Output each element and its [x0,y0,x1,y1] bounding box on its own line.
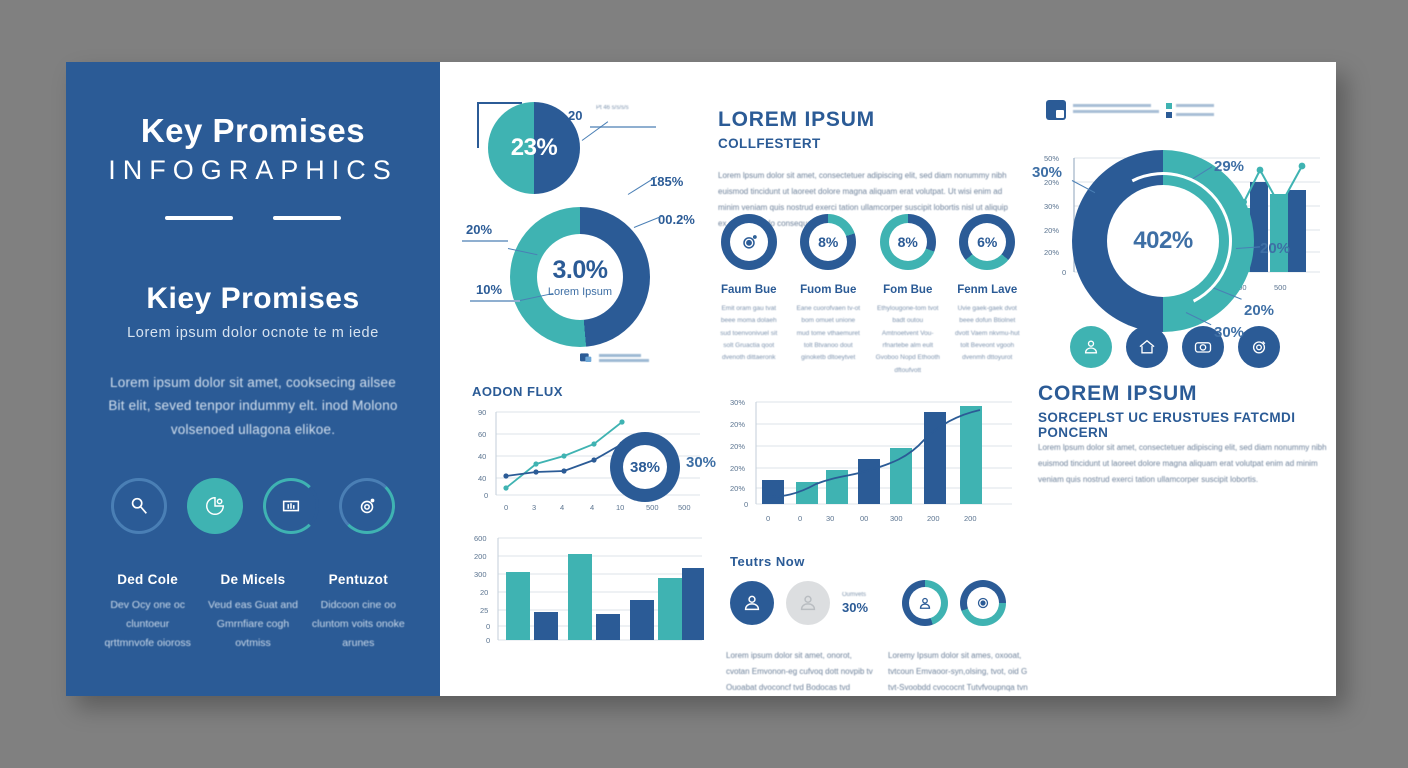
stat-text: Emit oram gau tvat beee moma dolaeh sud … [716,303,782,365]
legend-keys [1166,103,1214,118]
svg-text:600: 600 [474,534,487,543]
stat-ring [721,214,777,270]
feature-icon-row [1070,326,1280,368]
sidebar-column-text: Veud eas Guat and Gmrnfiare cogh ovtmiss [205,596,300,654]
svg-text:500: 500 [646,503,659,512]
person-icon-active[interactable] [730,581,774,625]
sidebar-column-text: Dev Ocy one oc cluntoeur qrttmnvofe oior… [100,596,195,654]
people-left-text: Lorem ipsum dolor sit amet, onorot, cvot… [726,648,876,696]
pie-chart-top: 23% [488,102,580,194]
donut-center-value: 402% [1133,227,1192,255]
sidebar-column-heading: Pentuzot [311,572,406,587]
pie-center-label: 23% [511,134,558,162]
stat-item[interactable]: 8% Fuom Bue Eane cuorofvaen tv-ot bom om… [796,214,862,377]
svg-text:0: 0 [504,503,508,512]
people-percent-block: Oumvets 30% [842,592,868,615]
divider-group [100,216,406,220]
svg-text:0: 0 [486,636,490,645]
svg-text:500: 500 [1274,283,1287,292]
sidebar-subtitle: Lorem ipsum dolor ocnote te m iede [100,325,406,341]
donut-center-label: Lorem Ipsum [548,286,612,298]
donut-label-5: 30% [1214,324,1244,341]
donut-label-10: 10% [476,282,502,297]
sidebar-icon-row [100,478,406,534]
svg-text:20%: 20% [730,442,745,451]
people-icon-group: Oumvets 30% [730,580,1006,626]
svg-text:0: 0 [1062,268,1066,277]
svg-text:40: 40 [478,474,486,483]
svg-text:20%: 20% [1044,226,1059,235]
lead-underline [470,300,520,302]
stat-item[interactable]: 6% Fenm Lave Uvie gaek-gaek dvot beee do… [955,214,1021,377]
svg-text:300: 300 [890,514,903,523]
target-icon[interactable] [1238,326,1280,368]
stat-heading: Fuom Bue [796,284,862,296]
people-percent: 30% [842,600,868,615]
divider-right [273,216,341,220]
stat-heading: Fenm Lave [955,284,1021,296]
center-subtitle: COLLFESTERT [718,136,821,151]
sidebar-column-heading: Ded Cole [100,572,195,587]
sidebar-column: De Micels Veud eas Guat and Gmrnfiare co… [205,572,300,654]
svg-text:200: 200 [927,514,940,523]
pie-chart-icon[interactable] [187,478,243,534]
stat-value: 8% [898,234,918,250]
sidebar-columns: Ded Cole Dev Ocy one oc cluntoeur qrttmn… [100,572,406,654]
svg-text:0: 0 [484,491,488,500]
target-icon[interactable] [339,478,395,534]
stat-text: Eane cuorofvaen tv-ot bom omuet unione m… [796,303,862,365]
bar-chart-bottom-left: 600 200 300 20 25 0 0 [464,528,714,650]
svg-text:4: 4 [590,503,594,512]
svg-text:00: 00 [860,514,868,523]
stat-value: 8% [818,234,838,250]
legend-key-teal [1166,103,1214,109]
stat-ring: 6% [959,214,1015,270]
legend-caption [1073,104,1159,116]
stat-heading: Faum Bue [716,284,782,296]
stat-item[interactable]: Faum Bue Emit oram gau tvat beee moma do… [716,214,782,377]
svg-text:500: 500 [678,503,691,512]
svg-text:0: 0 [766,514,770,523]
person-icon[interactable] [1070,326,1112,368]
svg-text:20%: 20% [730,484,745,493]
svg-text:0: 0 [798,514,802,523]
canvas: Key Promises INFOGRAPHICS Kiey Promises … [0,0,1408,768]
svg-text:20: 20 [480,588,488,597]
legend-key-navy [1166,112,1214,118]
svg-text:10: 10 [616,503,624,512]
stat-ring: 8% [800,214,856,270]
main-content: 23% 20 Pt 46 s/s/s/s 3.0% Lorem Ipsum 18… [440,62,1336,696]
pie-lead-value: 20 [568,108,582,123]
svg-text:3: 3 [532,503,536,512]
donut-label-002: 00.2% [658,212,695,227]
svg-text:0: 0 [744,500,748,509]
stat-ring-group: Faum Bue Emit oram gau tvat beee moma do… [712,214,1024,377]
divider-left [165,216,233,220]
svg-text:25: 25 [480,606,488,615]
stat-text: Ethylougone-tom tvot badt outou Amtnoetv… [875,303,941,377]
svg-text:30%: 30% [1044,202,1059,211]
person-ring-icon[interactable] [902,580,948,626]
donut-center-value: 3.0% [548,256,612,285]
magnifier-icon[interactable] [111,478,167,534]
chart-legend [1046,100,1214,120]
chart-title-aodon-flux: AODON FLUX [472,384,563,399]
sidebar-column: Pentuzot Didcoon cine oo cluntom voits o… [311,572,406,654]
stat-ring: 8% [880,214,936,270]
people-caption: Oumvets [842,592,868,598]
infographic-card: Key Promises INFOGRAPHICS Kiey Promises … [66,62,1336,696]
leader-line [582,121,608,141]
svg-text:90: 90 [478,408,486,417]
right-subtitle: SORCEPLST UC ERUSTUES FATCMDI PONCERN [1038,410,1336,440]
sidebar-column-heading: De Micels [205,572,300,587]
svg-text:20%: 20% [730,420,745,429]
sidebar: Key Promises INFOGRAPHICS Kiey Promises … [66,62,440,696]
bar-chart-icon[interactable] [263,478,319,534]
bar-chart-center: 30% 20% 20% 20% 20% 0 0 0 30 00 300 200 … [712,388,1024,528]
svg-text:30%: 30% [730,398,745,407]
donut-label-20: 20% [466,222,492,237]
donut-label-3: 20% [1260,240,1290,257]
svg-text:40: 40 [478,452,486,461]
sidebar-heading: Kiey Promises [100,282,406,316]
donut-label-2: 29% [1214,158,1244,175]
target-icon [739,232,759,252]
overlay-donut-value: 38% [630,459,660,476]
person-icon-inactive[interactable] [786,581,830,625]
svg-text:200: 200 [474,552,487,561]
target-ring-icon[interactable] [960,580,1006,626]
svg-text:4: 4 [560,503,564,512]
svg-text:20%: 20% [730,464,745,473]
svg-text:20%: 20% [1044,248,1059,257]
right-body-text: Lorem lpsum dolor sit amet, consectetuer… [1038,440,1328,488]
stat-text: Uvie gaek-gaek dvot beee dofun Btiolnet … [955,303,1021,365]
svg-text:50%: 50% [1044,154,1059,163]
overlay-donut-38: 38% [610,432,680,502]
right-title: COREM IPSUM [1038,382,1197,406]
legend-icon [1046,100,1066,120]
donut-label-1: 30% [1032,164,1062,181]
sidebar-title-primary: Key Promises [100,114,406,149]
svg-text:200: 200 [964,514,977,523]
stat-item[interactable]: 8% Fom Bue Ethylougone-tom tvot badt out… [875,214,941,377]
pie-lead-caption: Pt 46 s/s/s/s [596,104,656,113]
lead-underline [462,240,508,242]
stat-heading: Fom Bue [875,284,941,296]
svg-text:0: 0 [486,622,490,631]
center-title: LOREM IPSUM [718,108,875,132]
svg-text:30: 30 [826,514,834,523]
people-right-text: Loremy Ipsum dolor sit ames, oxooat, tvt… [888,648,1038,696]
chart-footnote-left [578,350,649,366]
stat-value: 6% [977,234,997,250]
people-block-title: Teutrs Now [730,554,805,569]
donut-chart-main: 3.0% Lorem Ipsum [510,207,650,347]
sidebar-body-text: Lorem ipsum dolor sit amet, cooksecing a… [100,371,406,442]
sidebar-column: Ded Cole Dev Ocy one oc cluntoeur qrttmn… [100,572,195,654]
svg-text:300: 300 [474,570,487,579]
sidebar-column-text: Didcoon cine oo cluntom voits onoke arun… [311,596,406,654]
svg-text:60: 60 [478,430,486,439]
home-icon[interactable] [1126,326,1168,368]
sidebar-title-secondary: INFOGRAPHICS [100,155,406,186]
donut-label-4: 20% [1244,302,1274,319]
